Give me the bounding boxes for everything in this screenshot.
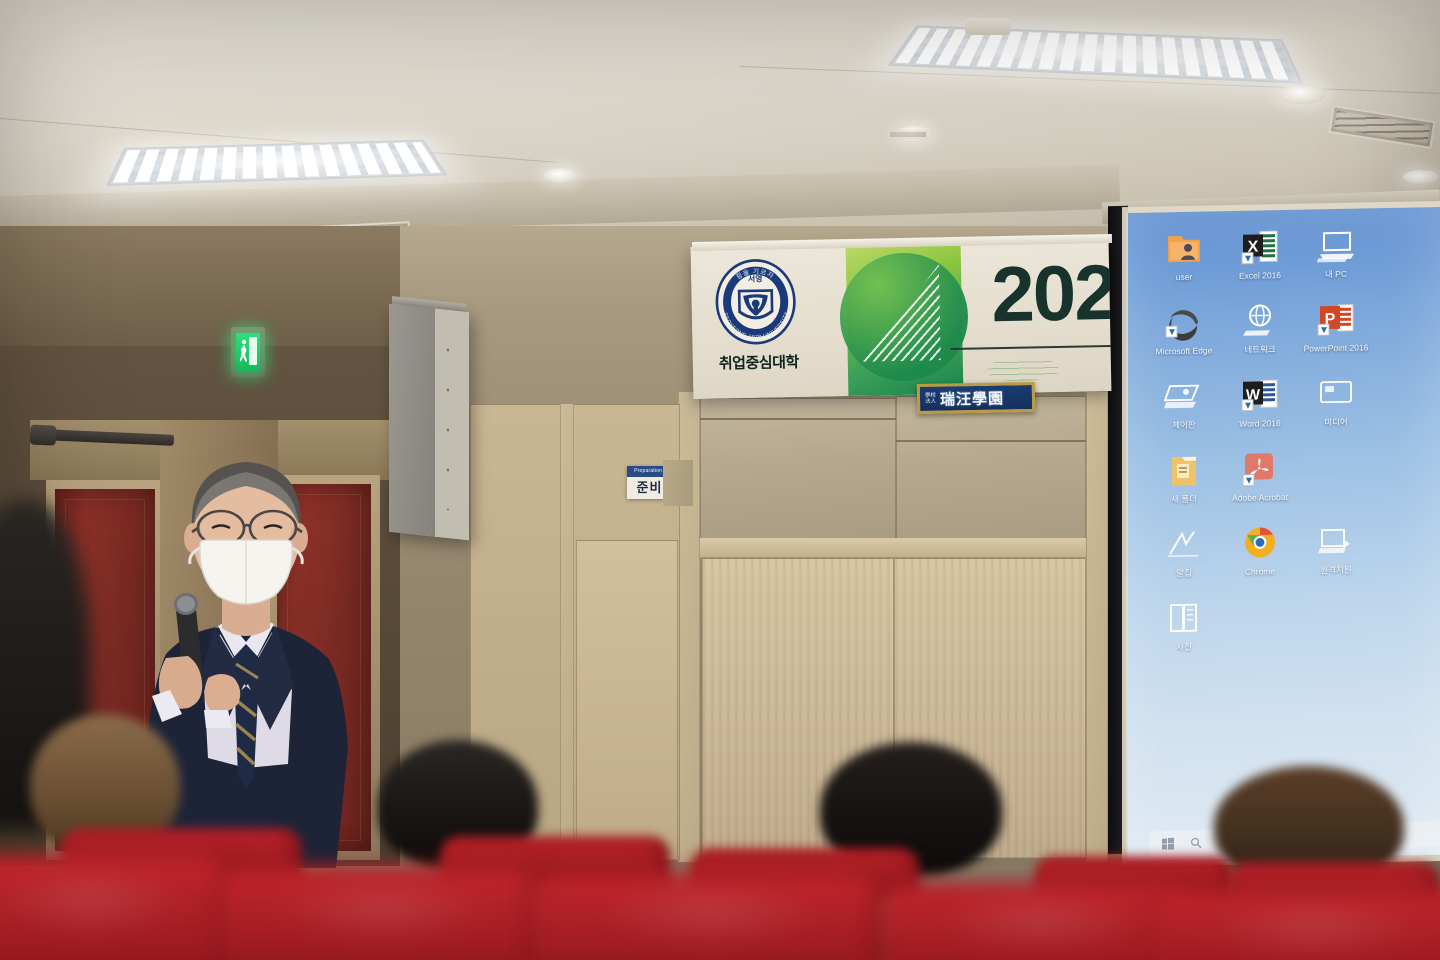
desktop-icon-this-pc-icon[interactable]: 내 PC	[1298, 226, 1374, 279]
auditorium-seat-foreground	[530, 872, 890, 960]
desktop-icon-label: 새 폴더	[1171, 494, 1197, 504]
powerpoint-icon: P	[1316, 301, 1356, 340]
wall-panel-seam	[700, 418, 896, 420]
acrobat-icon	[1240, 450, 1280, 489]
recessed-downlight-icon	[544, 168, 578, 183]
projected-desktop[interactable]: userXExcel 2016내 PCMicrosoft Edge네트워크PPo…	[1126, 207, 1440, 861]
desktop-icon-label: 제어판	[1172, 420, 1195, 430]
desktop-icon-remote-support-icon[interactable]: 원격지원	[1298, 522, 1374, 575]
this-pc-icon	[1316, 227, 1356, 266]
desktop-icon-network-icon[interactable]: 네트워크	[1222, 302, 1298, 355]
banner-caption: 취업중심대학	[711, 351, 807, 374]
desktop-icon-label: Microsoft Edge	[1156, 345, 1213, 356]
desktop-icon-label: 내 PC	[1325, 269, 1347, 279]
desktop-icon-media-icon[interactable]: 미디어	[1298, 374, 1374, 427]
desktop-icon-label: user	[1176, 272, 1193, 282]
network-icon	[1240, 302, 1280, 341]
recessed-downlight-icon	[1278, 84, 1326, 104]
desktop-icon-chrome-icon[interactable]: Chrome	[1222, 524, 1298, 577]
alzip-icon	[1164, 526, 1204, 565]
desktop-icon-alzip-icon[interactable]: 알집	[1146, 525, 1222, 578]
running-person-icon	[239, 339, 249, 365]
emergency-exit-sign	[231, 327, 265, 377]
presenter-hand-right	[204, 674, 240, 712]
new-folder-icon	[1164, 452, 1204, 491]
desktop-icon-user-folder-icon[interactable]: user	[1146, 229, 1222, 282]
desktop-icon-label: PowerPoint 2016	[1304, 342, 1369, 353]
banner-wave-graphic	[988, 358, 1058, 381]
spacer-icon	[1316, 449, 1356, 488]
excel-icon: X	[1240, 228, 1280, 267]
wall-chair-rail	[696, 538, 1090, 558]
wall-pilaster	[560, 404, 574, 860]
auditorium-seat-foreground	[1150, 888, 1440, 960]
banner-rule	[951, 345, 1111, 350]
wall-column-loudspeaker	[389, 304, 469, 540]
desktop-icon-label: Word 2016	[1239, 418, 1280, 429]
control-panel-icon	[1164, 378, 1204, 417]
plaque-prefix-line2: 法人	[925, 399, 936, 406]
desktop-icon-new-folder-icon[interactable]: 새 폴더	[1146, 451, 1222, 504]
smoke-detector-icon	[965, 18, 1011, 35]
desktop-icon-label: 네트워크	[1244, 344, 1275, 355]
desktop-icon-acrobat-icon[interactable]: Adobe Acrobat	[1222, 450, 1298, 503]
desktop-icon-excel-icon[interactable]: XExcel 2016	[1222, 228, 1298, 281]
banner-year: 202	[991, 247, 1112, 340]
desktop-icon-label: Adobe Acrobat	[1232, 492, 1288, 503]
search-icon[interactable]	[1190, 837, 1202, 849]
desktop-icon-edge-icon[interactable]: Microsoft Edge	[1146, 303, 1222, 356]
foundation-plaque: 學校 法人 瑞汪學園	[917, 382, 1036, 414]
wall-panel-seam	[896, 440, 1086, 442]
remote-support-icon	[1316, 523, 1356, 562]
start-icon[interactable]	[1162, 838, 1174, 850]
desktop-icon-label: Chrome	[1245, 566, 1275, 577]
door-frame-occluder	[663, 460, 693, 506]
edge-icon	[1164, 304, 1204, 343]
desktop-icon-grid: userXExcel 2016내 PCMicrosoft Edge네트워크PPo…	[1146, 225, 1438, 675]
auditorium-seat-foreground	[218, 866, 548, 960]
university-emblem-icon: 서영 힘을 기르자 SEOYEONG 1978 UNIVERSITY	[711, 257, 801, 347]
door-prep-room[interactable]	[576, 540, 678, 860]
chrome-icon	[1240, 524, 1280, 563]
event-banner: 서영 힘을 기르자 SEOYEONG 1978 UNIVERSITY 취업중심대…	[691, 239, 1112, 399]
air-vent-grille	[888, 130, 928, 139]
word-icon: W	[1240, 376, 1280, 415]
desktop-icon-dictionary-icon[interactable]: 사전	[1146, 599, 1222, 652]
wall-panel-upper	[896, 396, 1086, 540]
screen-black-border	[1108, 206, 1128, 854]
auditorium-seat-foreground	[0, 854, 240, 960]
dictionary-icon	[1164, 600, 1204, 639]
auditorium-photo: Preparation Room 준비실	[0, 0, 1440, 960]
recessed-downlight-icon	[1403, 170, 1439, 184]
user-folder-icon	[1164, 230, 1204, 269]
desktop-icon-label: Excel 2016	[1239, 270, 1281, 281]
desktop-icon-spacer-icon	[1298, 448, 1374, 501]
left-wall-upper	[0, 226, 400, 346]
media-icon	[1316, 375, 1356, 414]
desktop-icon-label: 알집	[1176, 568, 1192, 578]
desktop-icon-label: 미디어	[1324, 417, 1347, 427]
desktop-icon-label: 사전	[1176, 642, 1192, 652]
desktop-icon-word-icon[interactable]: WWord 2016	[1222, 376, 1298, 429]
desktop-icon-control-panel-icon[interactable]: 제어판	[1146, 377, 1222, 430]
desktop-icon-label: 원격지원	[1320, 565, 1351, 576]
plaque-name: 瑞汪學園	[940, 387, 1004, 409]
desktop-icon-powerpoint-icon[interactable]: PPowerPoint 2016	[1298, 300, 1374, 353]
